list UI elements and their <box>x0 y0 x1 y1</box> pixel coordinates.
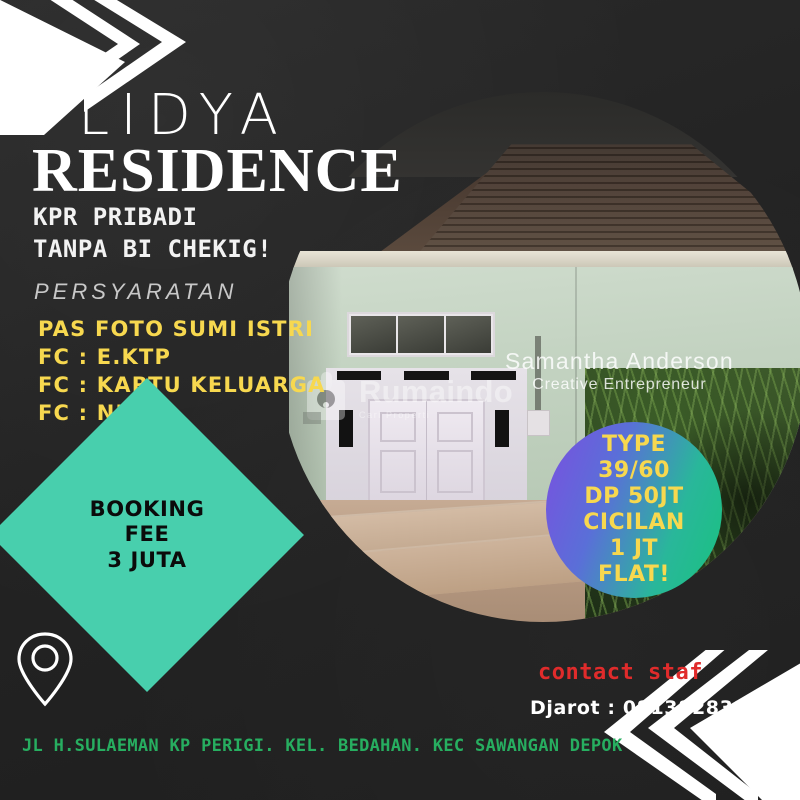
requirements-heading: PERSYARATAN <box>34 279 237 305</box>
price-badge-line1: TYPE <box>602 432 666 458</box>
requirement-item: FC : KARTU KELUARGA <box>38 372 326 400</box>
price-badge-line5: 1 JT <box>610 536 658 562</box>
requirement-item: PAS FOTO SUMI ISTRI <box>38 316 326 344</box>
tagline-line2: TANPA BI CHEKIG! <box>33 234 272 266</box>
property-flyer: Rumaindo Cari Properti Samantha Anderson… <box>0 0 800 800</box>
tagline-line1: KPR PRIBADI <box>33 202 272 234</box>
brand-name-line1: LIDYA <box>78 88 289 144</box>
booking-badge-line3: 3 JUTA <box>107 548 186 574</box>
contact-label: contact staf <box>538 660 703 685</box>
brand-tagline: KPR PRIBADI TANPA BI CHEKIG! <box>33 202 272 265</box>
price-badge-line4: CICILAN <box>583 510 685 536</box>
booking-badge-line2: FEE <box>125 522 170 548</box>
booking-fee-badge: BOOKING FEE 3 JUTA <box>36 424 258 646</box>
contact-phone[interactable]: Djarot : 081382831192 <box>530 697 789 719</box>
map-pin-icon <box>14 630 76 710</box>
price-badge-line6: FLAT! <box>598 562 670 588</box>
price-badge-line2: 39/60 <box>598 458 670 484</box>
property-address: JL H.SULAEMAN KP PERIGI. KEL. BEDAHAN. K… <box>22 736 623 756</box>
requirement-item: FC : E.KTP <box>38 344 326 372</box>
booking-badge-line1: BOOKING <box>90 497 205 523</box>
brand-name-line2: RESIDENCE <box>32 140 403 202</box>
price-badge-line3: DP 50JT <box>584 484 683 510</box>
requirements-list: PAS FOTO SUMI ISTRI FC : E.KTP FC : KART… <box>38 316 326 428</box>
price-badge: TYPE 39/60 DP 50JT CICILAN 1 JT FLAT! <box>546 422 722 598</box>
